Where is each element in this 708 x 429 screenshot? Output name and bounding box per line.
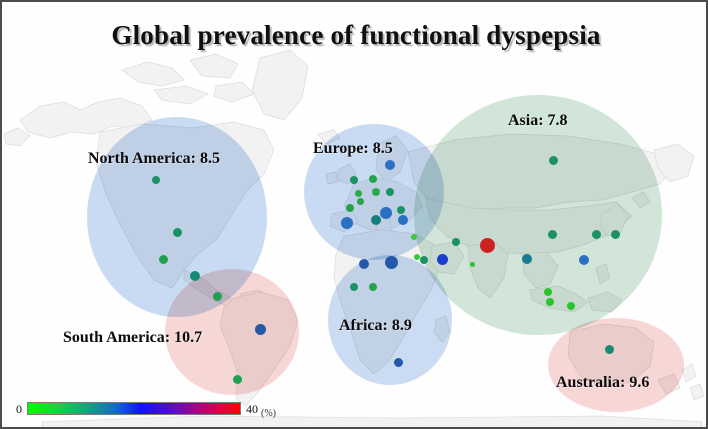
- study-point-north-america-2[interactable]: [159, 255, 168, 264]
- study-point-africa-24[interactable]: [385, 256, 398, 269]
- region-label-asia: Asia: 7.8: [508, 112, 568, 130]
- study-point-europe-18[interactable]: [398, 215, 408, 225]
- study-point-europe-17[interactable]: [371, 215, 381, 225]
- study-point-africa-27[interactable]: [394, 358, 403, 367]
- legend-gradient-bar: [27, 402, 241, 415]
- region-ellipse-asia[interactable]: [414, 95, 662, 335]
- study-point-africa-26[interactable]: [369, 283, 377, 291]
- region-ellipse-australia[interactable]: [548, 318, 684, 412]
- legend-unit-label: (%): [261, 408, 276, 419]
- color-legend: 0 40 (%): [16, 402, 276, 415]
- study-point-europe-12[interactable]: [386, 188, 394, 196]
- study-point-asia-40[interactable]: [567, 302, 575, 310]
- study-point-europe-9[interactable]: [369, 175, 377, 183]
- region-label-south-america: South America: 10.7: [63, 329, 202, 347]
- study-point-europe-8[interactable]: [350, 176, 358, 184]
- study-point-south-america-6[interactable]: [233, 375, 242, 384]
- study-point-asia-30[interactable]: [480, 238, 495, 253]
- study-point-africa-22[interactable]: [420, 256, 428, 264]
- study-point-europe-19[interactable]: [341, 217, 353, 229]
- study-point-asia-34[interactable]: [592, 230, 601, 239]
- study-point-europe-16[interactable]: [397, 206, 405, 214]
- study-point-asia-39[interactable]: [546, 298, 554, 306]
- study-point-asia-36[interactable]: [522, 254, 532, 264]
- study-point-north-america-0[interactable]: [152, 176, 160, 184]
- legend-max-label: 40: [246, 403, 258, 415]
- study-point-asia-35[interactable]: [611, 230, 620, 239]
- study-point-south-america-4[interactable]: [213, 292, 222, 301]
- figure-container: Global prevalence of functional dyspepsi…: [0, 0, 708, 429]
- study-point-europe-15[interactable]: [380, 207, 392, 219]
- region-label-north-america: North America: 8.5: [88, 150, 220, 168]
- study-point-europe-13[interactable]: [357, 198, 364, 205]
- study-point-asia-31[interactable]: [437, 254, 448, 265]
- study-point-europe-14[interactable]: [346, 204, 354, 212]
- study-point-north-america-3[interactable]: [190, 271, 200, 281]
- study-point-asia-37[interactable]: [579, 255, 589, 265]
- legend-min-label: 0: [16, 403, 22, 415]
- study-point-north-america-1[interactable]: [173, 228, 182, 237]
- study-point-australia-41[interactable]: [605, 345, 614, 354]
- study-point-africa-20[interactable]: [411, 234, 417, 240]
- region-label-europe: Europe: 8.5: [313, 140, 393, 158]
- study-point-asia-33[interactable]: [548, 230, 557, 239]
- region-label-africa: Africa: 8.9: [339, 317, 412, 335]
- study-point-south-america-5[interactable]: [255, 324, 266, 335]
- study-point-asia-29[interactable]: [452, 238, 460, 246]
- study-point-asia-28[interactable]: [549, 156, 558, 165]
- study-point-europe-7[interactable]: [385, 160, 395, 170]
- study-point-asia-32[interactable]: [470, 262, 475, 267]
- study-point-asia-38[interactable]: [544, 288, 552, 296]
- study-point-africa-23[interactable]: [359, 259, 369, 269]
- region-label-australia: Australia: 9.6: [556, 374, 649, 392]
- study-point-africa-25[interactable]: [350, 283, 358, 291]
- study-point-europe-11[interactable]: [355, 190, 362, 197]
- page-title: Global prevalence of functional dyspepsi…: [2, 20, 708, 51]
- study-point-europe-10[interactable]: [372, 188, 380, 196]
